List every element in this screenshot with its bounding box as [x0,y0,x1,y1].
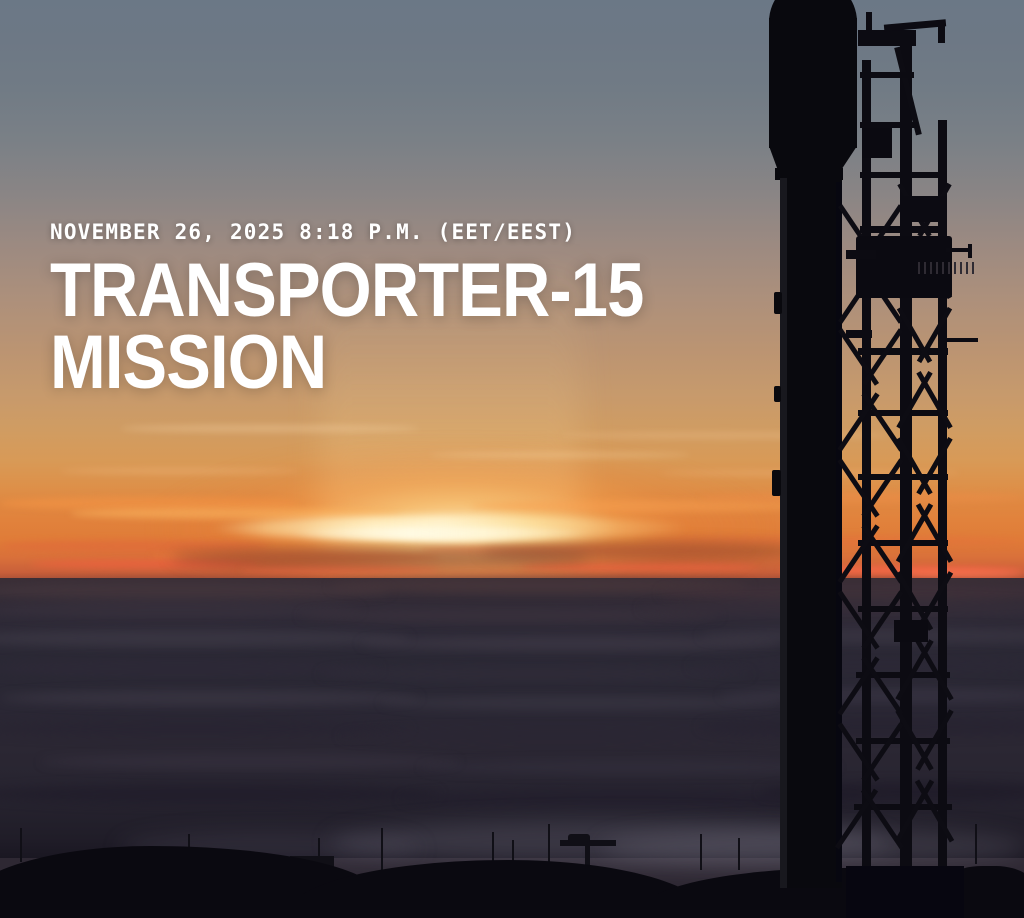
rocket-body-edge-highlight [780,178,787,888]
tower-platform-tie [858,606,948,612]
mission-title-line-1: TRANSPORTER-15 [50,255,684,327]
mission-datetime: NOVEMBER 26, 2025 8:18 P.M. (EET/EEST) [50,222,770,243]
tower-boom-hook [938,26,945,43]
tower-base-pad [846,866,964,918]
rocket-first-stage-body [780,178,842,888]
relay-tower-drum [568,834,590,843]
tower-platform-tie [858,474,948,480]
mission-title: TRANSPORTER-15 MISSION [50,255,684,399]
antenna-mast [738,838,740,870]
tower-outrigger-rail [946,338,978,342]
sunset-streak [470,500,810,512]
cirrus-streak [60,468,300,474]
cloud-wave [320,666,750,682]
rocket-raceway [836,182,842,882]
distant-antenna-array [918,262,976,274]
antenna-mast [975,824,977,864]
tower-platform-tie [860,72,914,78]
tower-platform-tie [860,172,946,178]
tower-hardware-block [862,128,892,158]
sunset-streak-red [520,563,760,571]
cloud-wave [0,630,410,647]
tower-outrigger-post [968,244,972,258]
cloud-wave [40,754,460,770]
antenna-mast [381,828,383,872]
rocket-hardware-nub [774,386,781,402]
cloud-wave [420,760,840,775]
tower-hardware-block [900,196,946,222]
tower-hardware-block [894,620,928,642]
dark-cloud-band [480,542,810,560]
rocket-hardware-nub [774,292,782,314]
rocket-hardware-nub [772,470,781,496]
horizon-hot-core [290,527,590,540]
cloud-wave [0,690,420,706]
cirrus-streak [120,425,420,432]
rocket-fairing-barrel [769,18,857,148]
cloud-wave [380,696,780,710]
antenna-mast [700,834,702,870]
tower-mast-cap [866,12,872,34]
tower-platform-tie [860,226,946,233]
tower-platform-tie [858,348,948,355]
tower-umbilical-arm [846,330,872,338]
mission-title-line-2: MISSION [50,327,684,399]
tower-umbilical-arm [846,250,876,259]
antenna-mast [20,828,22,862]
hero-text-block: NOVEMBER 26, 2025 8:18 P.M. (EET/EEST) T… [50,222,770,399]
mission-hero-banner: NOVEMBER 26, 2025 8:18 P.M. (EET/EEST) T… [0,0,1024,918]
cirrus-streak [430,452,690,458]
